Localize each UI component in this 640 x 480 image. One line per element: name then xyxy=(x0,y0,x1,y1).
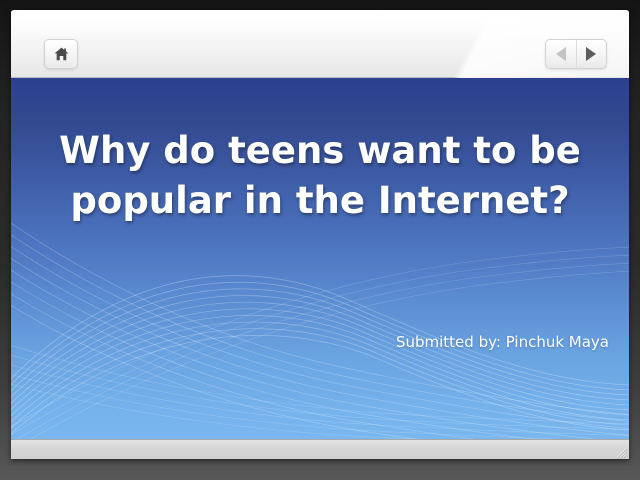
home-icon xyxy=(54,47,69,61)
slide-subtitle: Submitted by: Pinchuk Maya xyxy=(11,333,629,351)
triangle-right-icon xyxy=(586,47,596,61)
toolbar xyxy=(11,10,629,78)
triangle-left-icon xyxy=(556,47,566,61)
slide-canvas[interactable]: Why do teens want to be popular in the I… xyxy=(11,78,629,439)
presentation-window: Why do teens want to be popular in the I… xyxy=(11,10,629,459)
next-slide-button[interactable] xyxy=(576,40,607,68)
status-bar xyxy=(11,439,629,459)
home-button[interactable] xyxy=(44,39,78,69)
previous-slide-button[interactable] xyxy=(546,40,576,68)
slide-title: Why do teens want to be popular in the I… xyxy=(11,126,629,226)
background-wave-pattern xyxy=(11,189,629,439)
navigation-button-group xyxy=(545,39,607,69)
toolbar-gloss xyxy=(11,11,629,37)
screen: Why do teens want to be popular in the I… xyxy=(0,0,640,480)
resize-grip-icon[interactable] xyxy=(612,443,626,457)
